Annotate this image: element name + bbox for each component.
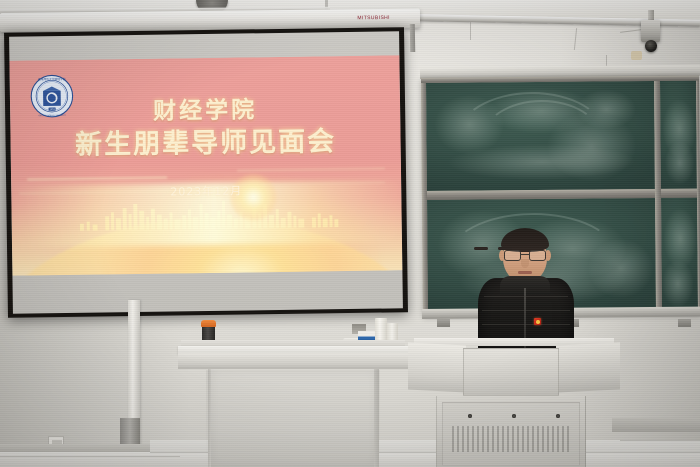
- floor-tile-line: [620, 440, 700, 441]
- classroom-photo: MITSUBISHI: [0, 0, 700, 467]
- thermos-lid: [201, 320, 216, 327]
- party-emblem-badge-icon: [534, 318, 541, 325]
- lectern-wing-right: [556, 342, 620, 392]
- svg-text:贵州师范大学财经学院: 贵州师范大学财经学院: [38, 77, 66, 81]
- desk-apron: [178, 353, 408, 369]
- chalk-tray-clip: [678, 319, 691, 327]
- wall-crack: [470, 22, 471, 40]
- lectern-ventilation-slots: [452, 426, 570, 452]
- paper-cup: [375, 318, 387, 342]
- teacher-desk: [178, 340, 408, 467]
- wall-patch: [631, 51, 642, 60]
- multimedia-lectern: [408, 338, 620, 467]
- chalkboard-panel: [660, 81, 697, 189]
- slide-title-line2: 新生朋辈导师见面会: [10, 123, 400, 164]
- lectern-screw: [556, 414, 560, 418]
- nose: [521, 259, 529, 268]
- camera-lens-icon: [645, 40, 657, 52]
- lectern-wing-left: [408, 342, 466, 392]
- screen-bracket: [410, 24, 415, 52]
- lectern-screw: [468, 414, 472, 418]
- presentation-slide: 1952 贵州师范大学财经学院 GUIZHOU NORMAL UNIVERSIT…: [9, 55, 402, 275]
- desk-shadow: [206, 370, 380, 467]
- surveillance-camera-icon: [641, 20, 660, 42]
- mouth: [518, 271, 532, 274]
- floor-tile-line: [0, 456, 180, 457]
- lectern-screw: [512, 414, 516, 418]
- screen-brand-label: MITSUBISHI: [357, 15, 390, 21]
- projection-screen: 1952 贵州师范大学财经学院 GUIZHOU NORMAL UNIVERSIT…: [4, 27, 408, 318]
- lectern-center-door[interactable]: [463, 348, 559, 396]
- baseboard-right: [612, 418, 700, 432]
- eyebrow-left: [474, 247, 488, 250]
- speaker: [470, 228, 585, 348]
- chalkboard-panel: [426, 81, 655, 191]
- chalkboard-panel: [661, 198, 698, 310]
- slide-title: 财经学院 新生朋辈导师见面会: [10, 93, 401, 164]
- chalk-tray-clip: [437, 319, 450, 327]
